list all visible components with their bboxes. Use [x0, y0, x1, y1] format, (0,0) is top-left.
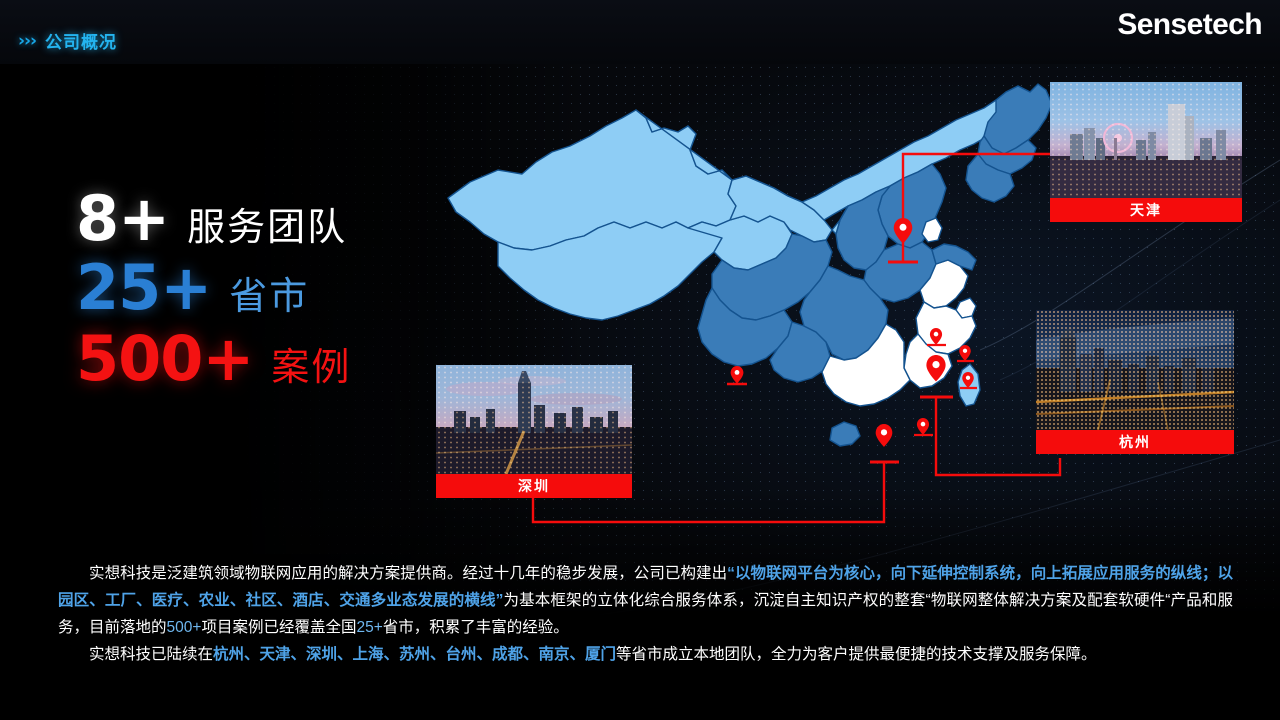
p1-text-d: 省市，积累了丰富的经验。	[383, 619, 569, 636]
stat-label: 案例	[271, 336, 351, 391]
stat-item-cases: 500+ 案例	[76, 326, 351, 391]
description-paragraph: 实想科技是泛建筑领域物联网应用的解决方案提供商。经过十几年的稳步发展，公司已构建…	[58, 560, 1233, 668]
city-card-tianjin[interactable]: 天津	[1050, 82, 1242, 222]
page-header: ››› 公司概况 Sensetech	[0, 0, 1280, 64]
chevrons-icon: ›››	[18, 31, 36, 51]
section-tag: ››› 公司概况	[18, 28, 117, 53]
stat-item-teams: 8+ 服务团队	[76, 186, 351, 251]
city-label-tianjin: 天津	[1050, 198, 1242, 222]
p2-text-a: 实想科技已陆续在	[89, 646, 213, 663]
p1-text-a: 实想科技是泛建筑领域物联网应用的解决方案提供商。经过十几年的稳步发展，公司已构建…	[89, 565, 727, 582]
city-photo-tianjin	[1050, 82, 1242, 198]
paragraph-1: 实想科技是泛建筑领域物联网应用的解决方案提供商。经过十几年的稳步发展，公司已构建…	[58, 560, 1233, 641]
paragraph-2: 实想科技已陆续在杭州、天津、深圳、上海、苏州、台州、成都、南京、厦门等省市成立本…	[58, 641, 1233, 668]
p1-number-cases: 500+	[167, 619, 202, 636]
stat-number: 8+	[76, 186, 169, 251]
stat-label: 省市	[229, 265, 309, 320]
p1-text-c: 项目案例已经覆盖全国	[201, 619, 356, 636]
province-hainan	[830, 422, 860, 446]
city-label-hangzhou: 杭州	[1036, 430, 1234, 454]
stats-block: 8+ 服务团队 25+ 省市 500+ 案例	[76, 186, 351, 399]
city-photo-shenzhen	[436, 365, 632, 474]
city-label-shenzhen: 深圳	[436, 474, 632, 498]
photo-lights	[1050, 82, 1242, 198]
stat-number: 25+	[76, 255, 211, 320]
photo-lights	[436, 365, 632, 474]
photo-lights	[1036, 310, 1234, 430]
header-bar	[0, 0, 1280, 64]
city-photo-hangzhou	[1036, 310, 1234, 430]
city-card-hangzhou[interactable]: 杭州	[1036, 310, 1234, 454]
stat-number: 500+	[76, 326, 253, 391]
p1-number-provinces: 25+	[356, 619, 382, 636]
p2-text-b: 等省市成立本地团队，全力为客户提供最便捷的技术支撑及服务保障。	[616, 646, 1097, 663]
p2-city-list: 杭州、天津、深圳、上海、苏州、台州、成都、南京、厦门	[213, 646, 616, 663]
brand-logo: Sensetech	[1117, 8, 1262, 42]
stat-item-provinces: 25+ 省市	[76, 255, 351, 320]
page-title: 公司概况	[45, 28, 117, 53]
city-card-shenzhen[interactable]: 深圳	[436, 365, 632, 498]
province-heilongjiang	[984, 84, 1052, 154]
province-taiwan	[958, 364, 980, 406]
stat-label: 服务团队	[187, 196, 347, 251]
